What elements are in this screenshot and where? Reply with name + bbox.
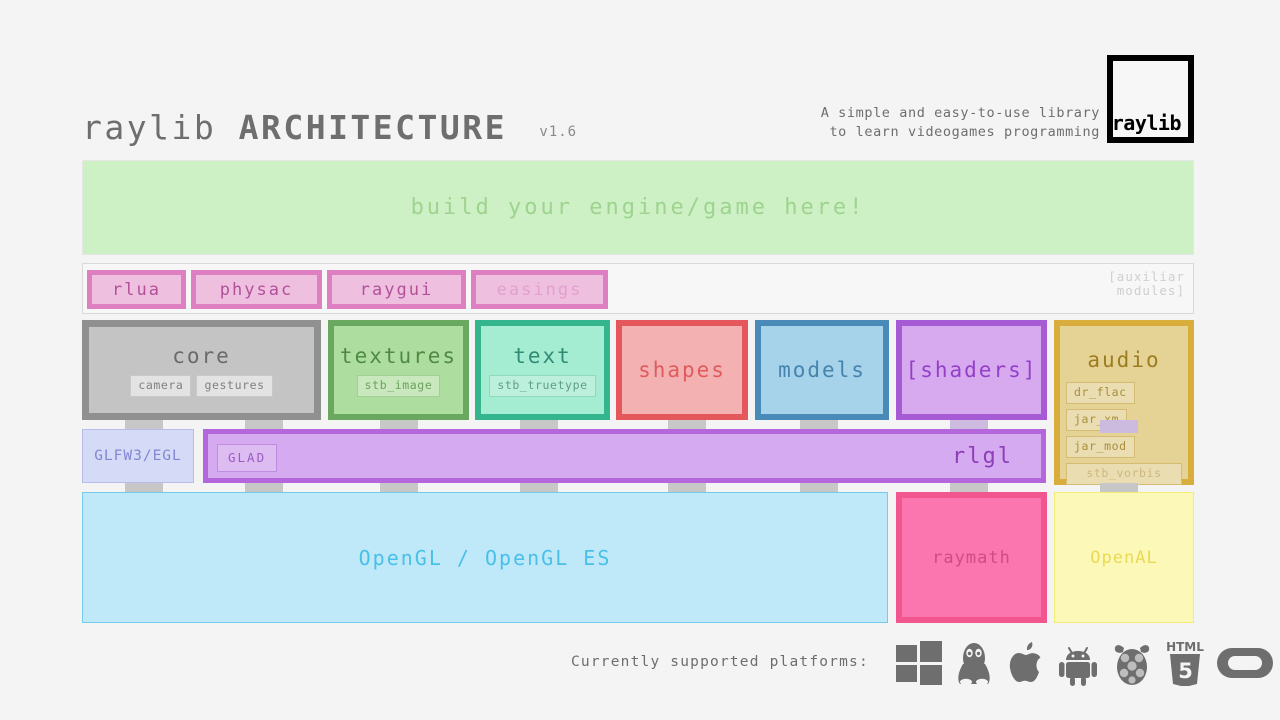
engine-banner: build your engine/game here! [82,160,1194,255]
tagline-line-1: A simple and easy-to-use library [821,104,1100,123]
svg-text:5: 5 [1178,659,1193,683]
html5-icon: HTML5 [1166,640,1204,686]
module-sublist: cameragestures [89,375,314,397]
engine-banner-label: build your engine/game here! [411,195,866,220]
module-text[interactable]: textstb_truetype [475,320,610,420]
module-audio[interactable]: audio dr_flacjar_xmjar_modstb_vorbis [1054,320,1194,485]
sub-module-gestures[interactable]: gestures [196,375,272,397]
sub-module-stb_image[interactable]: stb_image [357,375,441,397]
tagline: A simple and easy-to-use library to lear… [821,104,1100,142]
module-sublist: stb_truetype [481,375,604,397]
windows-icon [896,641,942,685]
auxiliar-modules-caption: [auxiliar modules] [1108,270,1185,298]
module-raymath[interactable]: raymath [896,492,1047,623]
connector-tab [1100,420,1138,433]
supported-platforms-label: Currently supported platforms: [571,654,869,670]
title-light: raylib [82,108,216,147]
auxiliar-modules-strip: rluaphysacrayguieasings [auxiliar module… [82,263,1194,314]
apple-icon [1006,640,1046,686]
module-label: [shaders] [906,358,1038,382]
platform-icons: HTML5 [896,640,1274,686]
sub-module-jar_mod[interactable]: jar_mod [1066,436,1135,458]
sub-module-dr_flac[interactable]: dr_flac [1066,382,1135,404]
android-icon [1058,640,1098,686]
sub-module-camera[interactable]: camera [130,375,191,397]
module-label: models [778,358,866,382]
module-label: textures [340,344,457,368]
header: raylib ARCHITECTURE v1.6 A simple and ea… [0,0,1280,155]
oculus-icon [1216,643,1274,683]
module-sublist: stb_image [334,375,463,397]
module-opengl[interactable]: OpenGL / OpenGL ES [82,492,888,623]
module-label: core [172,344,231,368]
raylib-logo-label: raylib [1112,111,1181,135]
module-glfw3-egl-label: GLFW3/EGL [94,448,182,464]
module-opengl-label: OpenGL / OpenGL ES [359,546,612,570]
svg-text:HTML: HTML [1166,640,1204,654]
module-openal[interactable]: OpenAL [1054,492,1194,623]
sub-module-stb_truetype[interactable]: stb_truetype [489,375,595,397]
linux-icon [954,640,994,686]
aux-module-physac[interactable]: physac [191,270,322,309]
module-raymath-label: raymath [932,548,1011,568]
aux-module-label: rlua [112,280,161,300]
aux-module-easings[interactable]: easings [471,270,608,309]
aux-module-raygui[interactable]: raygui [327,270,466,309]
module-models[interactable]: models [755,320,889,420]
module-openal-label: OpenAL [1090,548,1157,568]
title-version: v1.6 [539,124,577,140]
aux-module-label: easings [497,280,583,300]
module-glfw3-egl[interactable]: GLFW3/EGL [82,429,194,483]
page-title: raylib ARCHITECTURE v1.6 [82,108,577,147]
architecture-diagram: raylib ARCHITECTURE v1.6 A simple and ea… [0,0,1280,720]
module-audio-sublist: dr_flacjar_xmjar_modstb_vorbis [1060,382,1188,485]
module-label: shapes [638,358,726,382]
module-rlgl-label: rlgl [952,444,1013,469]
raspberrypi-icon [1110,640,1154,686]
module-core[interactable]: corecameragestures [82,320,321,420]
module-rlgl[interactable]: GLAD rlgl [203,429,1046,483]
aux-module-rlua[interactable]: rlua [87,270,186,309]
title-bold: ARCHITECTURE [239,108,507,147]
module-label: text [513,344,572,368]
module-glad[interactable]: GLAD [217,444,277,472]
raylib-logo: raylib [1107,55,1194,143]
module-shapes[interactable]: shapes [616,320,748,420]
module-textures[interactable]: texturesstb_image [328,320,469,420]
module-shaders[interactable]: [shaders] [896,320,1047,420]
aux-module-label: raygui [360,280,433,300]
module-audio-label: audio [1087,348,1160,372]
tagline-line-2: to learn videogames programming [821,123,1100,142]
aux-module-label: physac [220,280,293,300]
sub-module-stb_vorbis[interactable]: stb_vorbis [1066,463,1182,485]
